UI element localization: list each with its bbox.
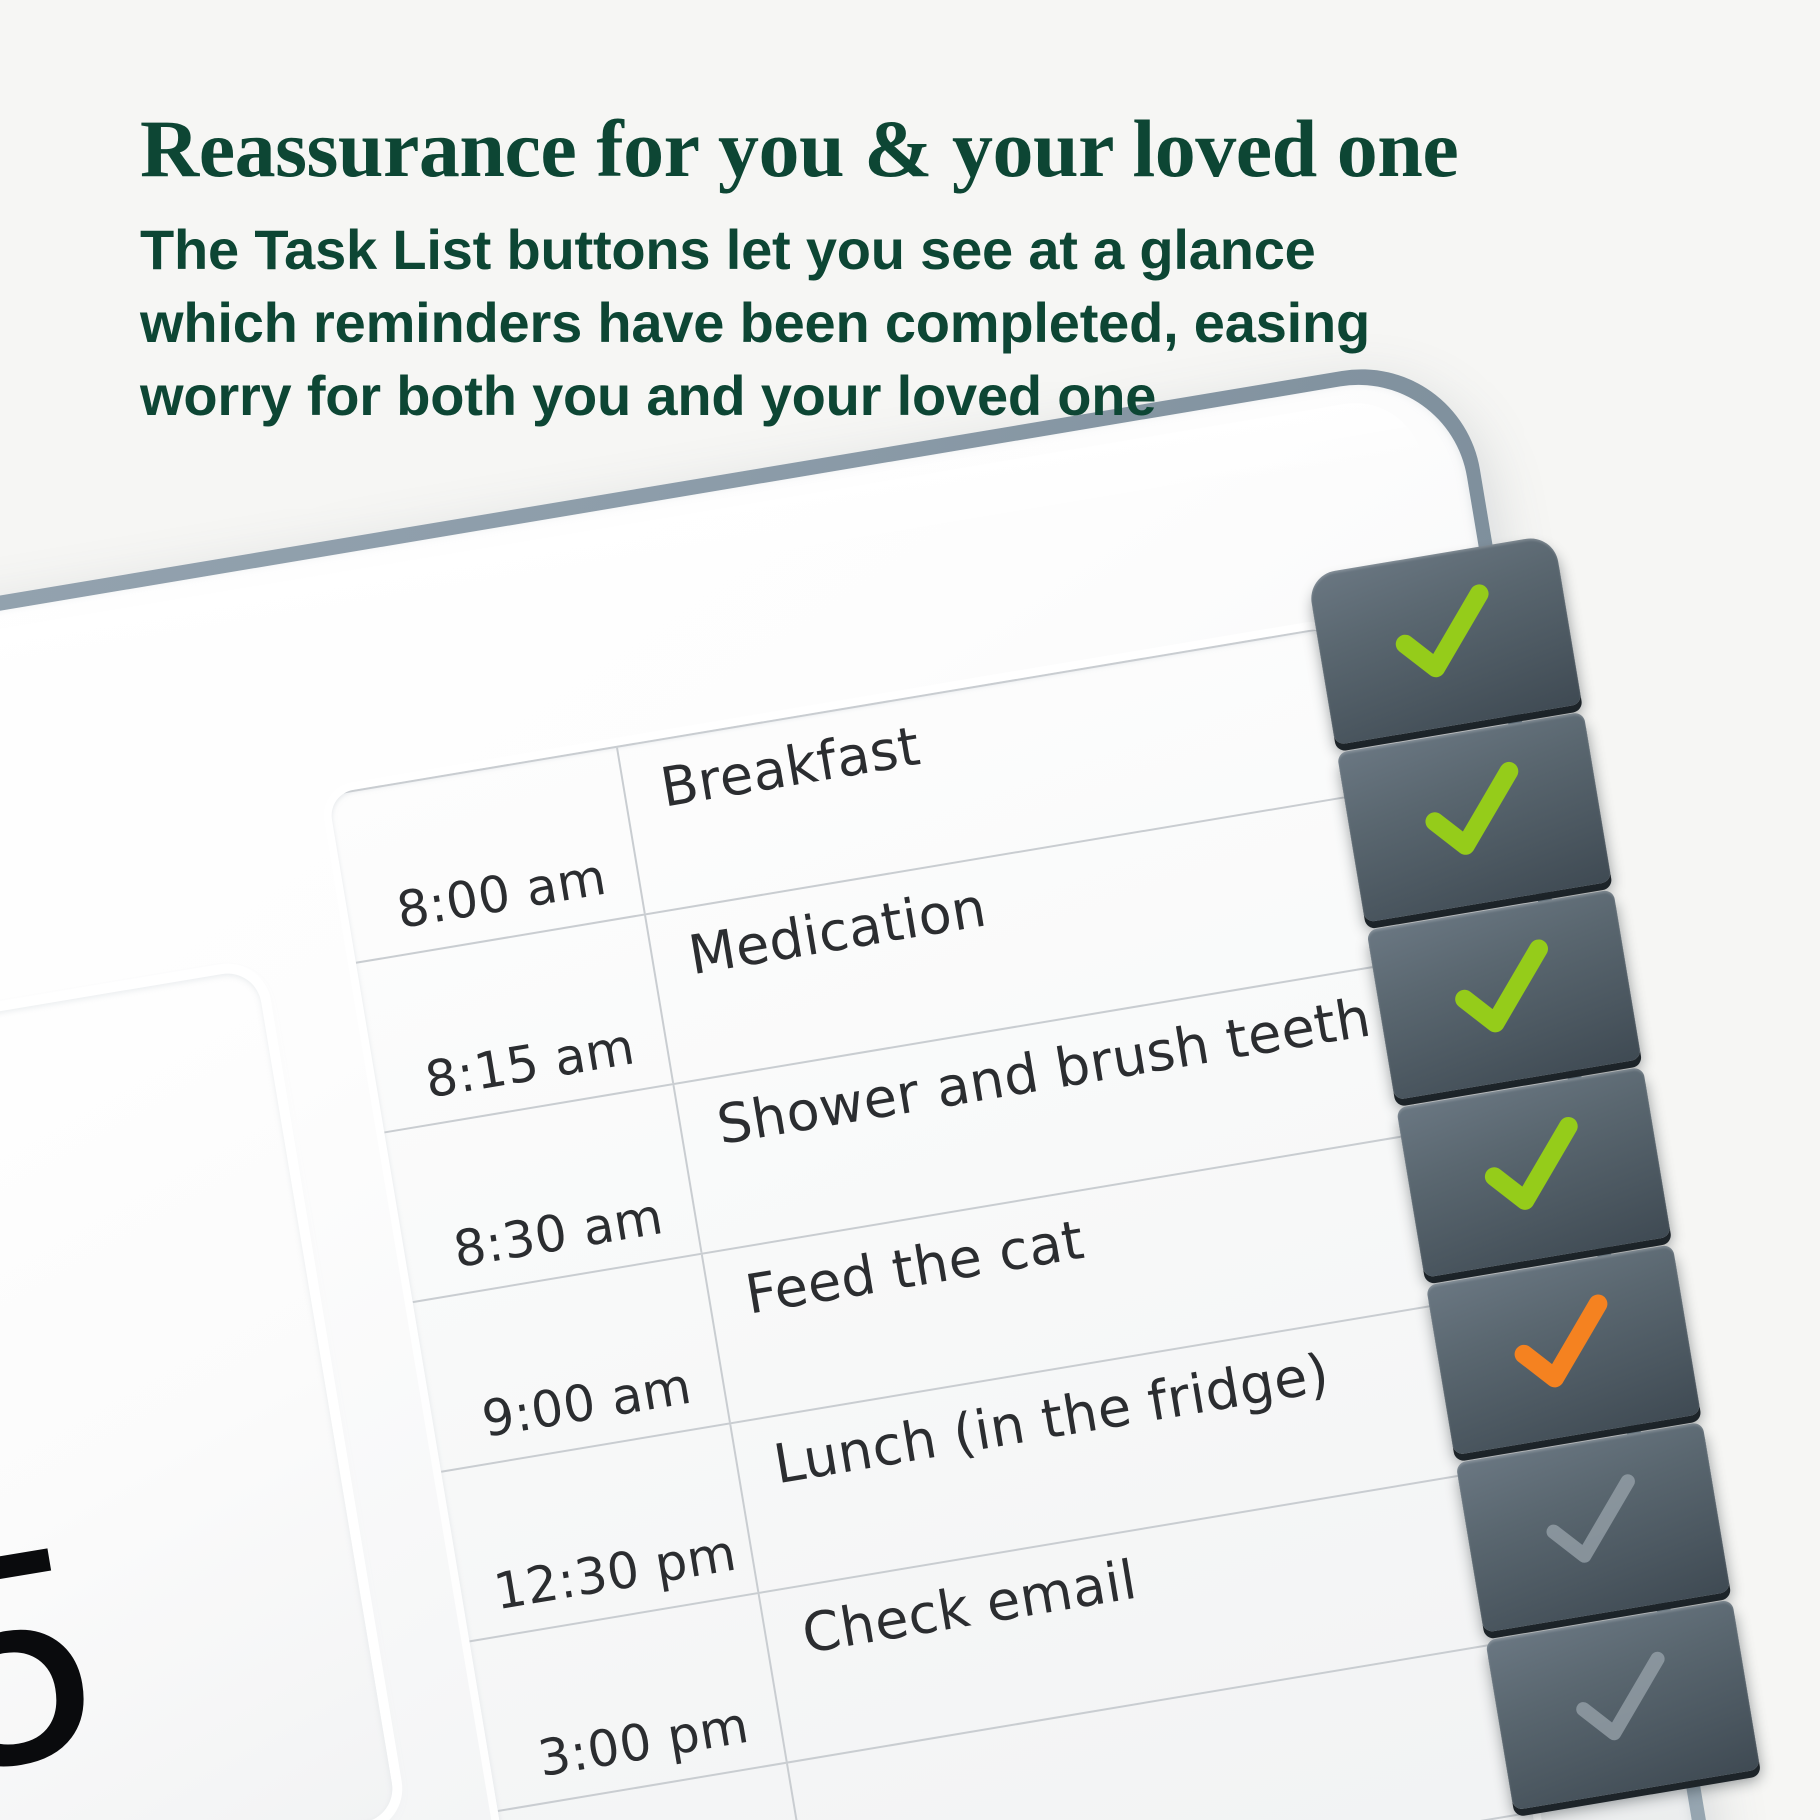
check-icon bbox=[1554, 1639, 1691, 1767]
check-icon bbox=[1406, 751, 1543, 879]
check-icon bbox=[1435, 928, 1572, 1056]
promo-header: Reassurance for you & your loved one The… bbox=[140, 108, 1700, 432]
check-icon bbox=[1495, 1284, 1632, 1412]
clock-time-text: 45 bbox=[0, 1499, 104, 1820]
page-title: Reassurance for you & your loved one bbox=[140, 108, 1700, 190]
column-divider bbox=[786, 1763, 816, 1820]
task-button-shower[interactable] bbox=[1366, 889, 1641, 1100]
task-button-check-email[interactable] bbox=[1456, 1422, 1731, 1633]
page-subtitle: The Task List buttons let you see at a g… bbox=[140, 214, 1430, 432]
task-button-next[interactable] bbox=[1485, 1599, 1760, 1810]
check-icon bbox=[1524, 1461, 1661, 1589]
task-button-medication[interactable] bbox=[1337, 712, 1612, 923]
reminder-board-device: ay oon 45 8:00 am Breakfast 8:15 am Medi… bbox=[0, 351, 1741, 1820]
task-button-lunch[interactable] bbox=[1426, 1244, 1701, 1455]
check-icon bbox=[1376, 573, 1513, 701]
task-button-feed-cat[interactable] bbox=[1396, 1067, 1671, 1278]
check-icon bbox=[1465, 1106, 1602, 1234]
